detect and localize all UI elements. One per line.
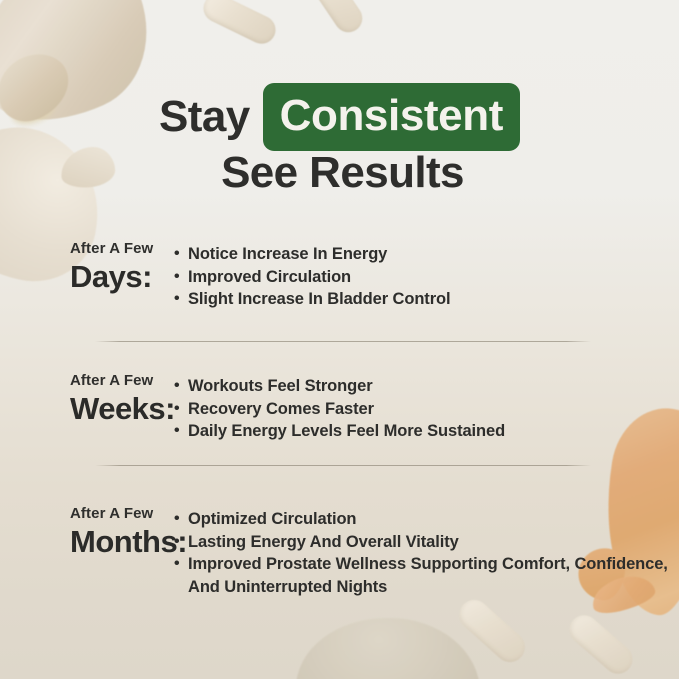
- list-item: • Workouts Feel Stronger: [174, 375, 679, 398]
- list-item: • Lasting Energy And Overall Vitality: [174, 531, 679, 554]
- bullet-dot-icon: •: [174, 508, 188, 531]
- bullet-dot-icon: •: [174, 398, 188, 421]
- bullet-dot-icon: •: [174, 420, 188, 443]
- bullet-dot-icon: •: [174, 288, 188, 311]
- list-item-text: Improved Circulation: [188, 266, 679, 289]
- section-label-days: After A Few Days:: [0, 240, 172, 294]
- headline-highlight-badge: Consistent: [263, 83, 520, 151]
- list-item: • Slight Increase In Bladder Control: [174, 288, 679, 311]
- section-divider: [95, 341, 591, 342]
- list-item: • Improved Circulation: [174, 266, 679, 289]
- section-bullet-list-weeks: • Workouts Feel Stronger • Recovery Come…: [172, 372, 679, 443]
- promotional-poster: Stay Consistent See Results After A Few …: [0, 0, 679, 679]
- list-item: • Daily Energy Levels Feel More Sustaine…: [174, 420, 679, 443]
- bullet-dot-icon: •: [174, 243, 188, 266]
- bullet-dot-icon: •: [174, 375, 188, 398]
- headline-line-1: Stay Consistent: [0, 88, 679, 146]
- bullet-dot-icon: •: [174, 553, 188, 576]
- list-item-text: Daily Energy Levels Feel More Sustained: [188, 420, 679, 443]
- section-eyebrow: After A Few: [70, 506, 172, 523]
- section-term: Weeks:: [70, 392, 172, 427]
- section-term: Months:: [70, 525, 172, 560]
- headline-line-2: See Results: [0, 150, 679, 196]
- timeline-section-days: After A Few Days: • Notice Increase In E…: [0, 240, 679, 311]
- section-divider: [95, 465, 591, 466]
- bullet-dot-icon: •: [174, 531, 188, 554]
- list-item-text: Lasting Energy And Overall Vitality: [188, 531, 679, 554]
- list-item-text: Recovery Comes Faster: [188, 398, 679, 421]
- timeline-section-weeks: After A Few Weeks: • Workouts Feel Stron…: [0, 372, 679, 443]
- section-label-months: After A Few Months:: [0, 505, 172, 559]
- bullet-dot-icon: •: [174, 266, 188, 289]
- poster-content: Stay Consistent See Results After A Few …: [0, 0, 679, 679]
- list-item: • Optimized Circulation: [174, 508, 679, 531]
- section-label-weeks: After A Few Weeks:: [0, 372, 172, 426]
- list-item-text: Notice Increase In Energy: [188, 243, 679, 266]
- section-eyebrow: After A Few: [70, 373, 172, 390]
- list-item: • Recovery Comes Faster: [174, 398, 679, 421]
- list-item-text: Optimized Circulation: [188, 508, 679, 531]
- section-term: Days:: [70, 260, 172, 295]
- section-bullet-list-months: • Optimized Circulation • Lasting Energy…: [172, 505, 679, 598]
- list-item-text: Improved Prostate Wellness Supporting Co…: [188, 553, 679, 598]
- list-item-text: Slight Increase In Bladder Control: [188, 288, 679, 311]
- list-item-text: Workouts Feel Stronger: [188, 375, 679, 398]
- list-item: • Improved Prostate Wellness Supporting …: [174, 553, 679, 598]
- list-item: • Notice Increase In Energy: [174, 243, 679, 266]
- headline: Stay Consistent See Results: [0, 88, 679, 196]
- section-bullet-list-days: • Notice Increase In Energy • Improved C…: [172, 240, 679, 311]
- headline-prefix: Stay: [159, 95, 250, 139]
- section-eyebrow: After A Few: [70, 241, 172, 258]
- timeline-section-months: After A Few Months: • Optimized Circulat…: [0, 505, 679, 598]
